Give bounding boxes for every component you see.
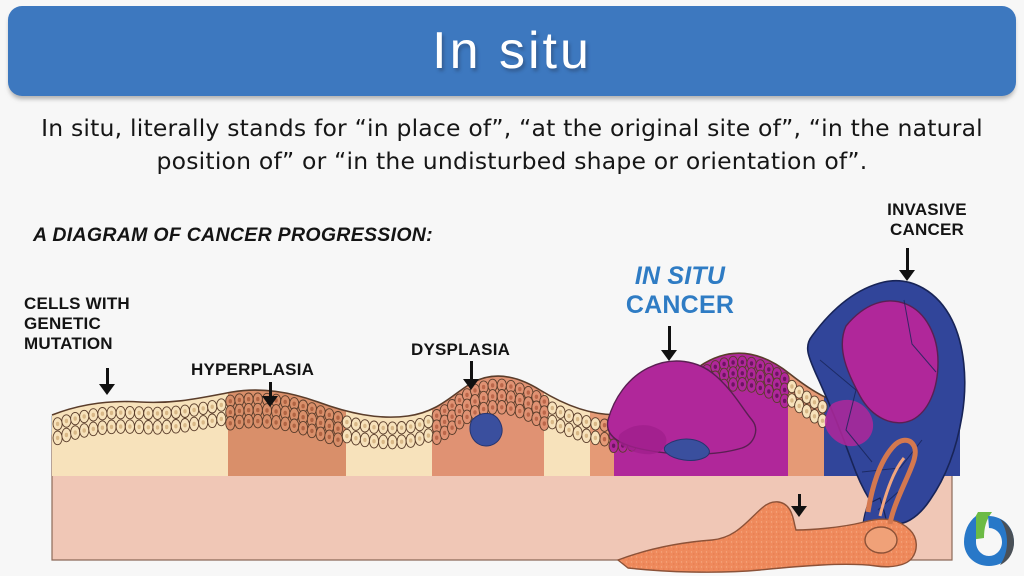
label-line-2: GENETIC — [24, 314, 130, 334]
arrow-to-hyperplasia — [262, 382, 278, 407]
arrow-to-invasive-cancer — [899, 248, 915, 281]
label-cells-with-genetic-mutation: CELLS WITH GENETIC MUTATION — [24, 294, 130, 354]
arrow-to-in-situ-cancer — [661, 326, 677, 361]
label-line-2: CANCER — [862, 220, 992, 240]
label-line-1: INVASIVE — [862, 200, 992, 220]
label-hyperplasia: HYPERPLASIA — [191, 360, 314, 380]
label-line-1: HYPERPLASIA — [191, 360, 314, 380]
dysplasia-focus — [470, 413, 502, 446]
cancer-progression-illustration — [0, 0, 1024, 576]
label-line-3: MUTATION — [24, 334, 130, 354]
label-invasive-cancer: INVASIVE CANCER — [862, 200, 992, 240]
label-line-1: IN SITU — [600, 262, 760, 291]
label-line-2: CANCER — [600, 291, 760, 320]
label-line-1: CELLS WITH — [24, 294, 130, 314]
arrow-to-dysplasia — [463, 361, 479, 390]
page-root: In situ In situ, literally stands for “i… — [0, 0, 1024, 576]
label-line-1: DYSPLASIA — [411, 340, 510, 360]
arrow-to-blood-vessel — [791, 494, 807, 517]
biologyonline-b-logo — [964, 512, 1014, 566]
arrow-to-mutation — [99, 368, 115, 395]
label-in-situ-cancer: IN SITU CANCER — [600, 262, 760, 320]
label-dysplasia: DYSPLASIA — [411, 340, 510, 360]
